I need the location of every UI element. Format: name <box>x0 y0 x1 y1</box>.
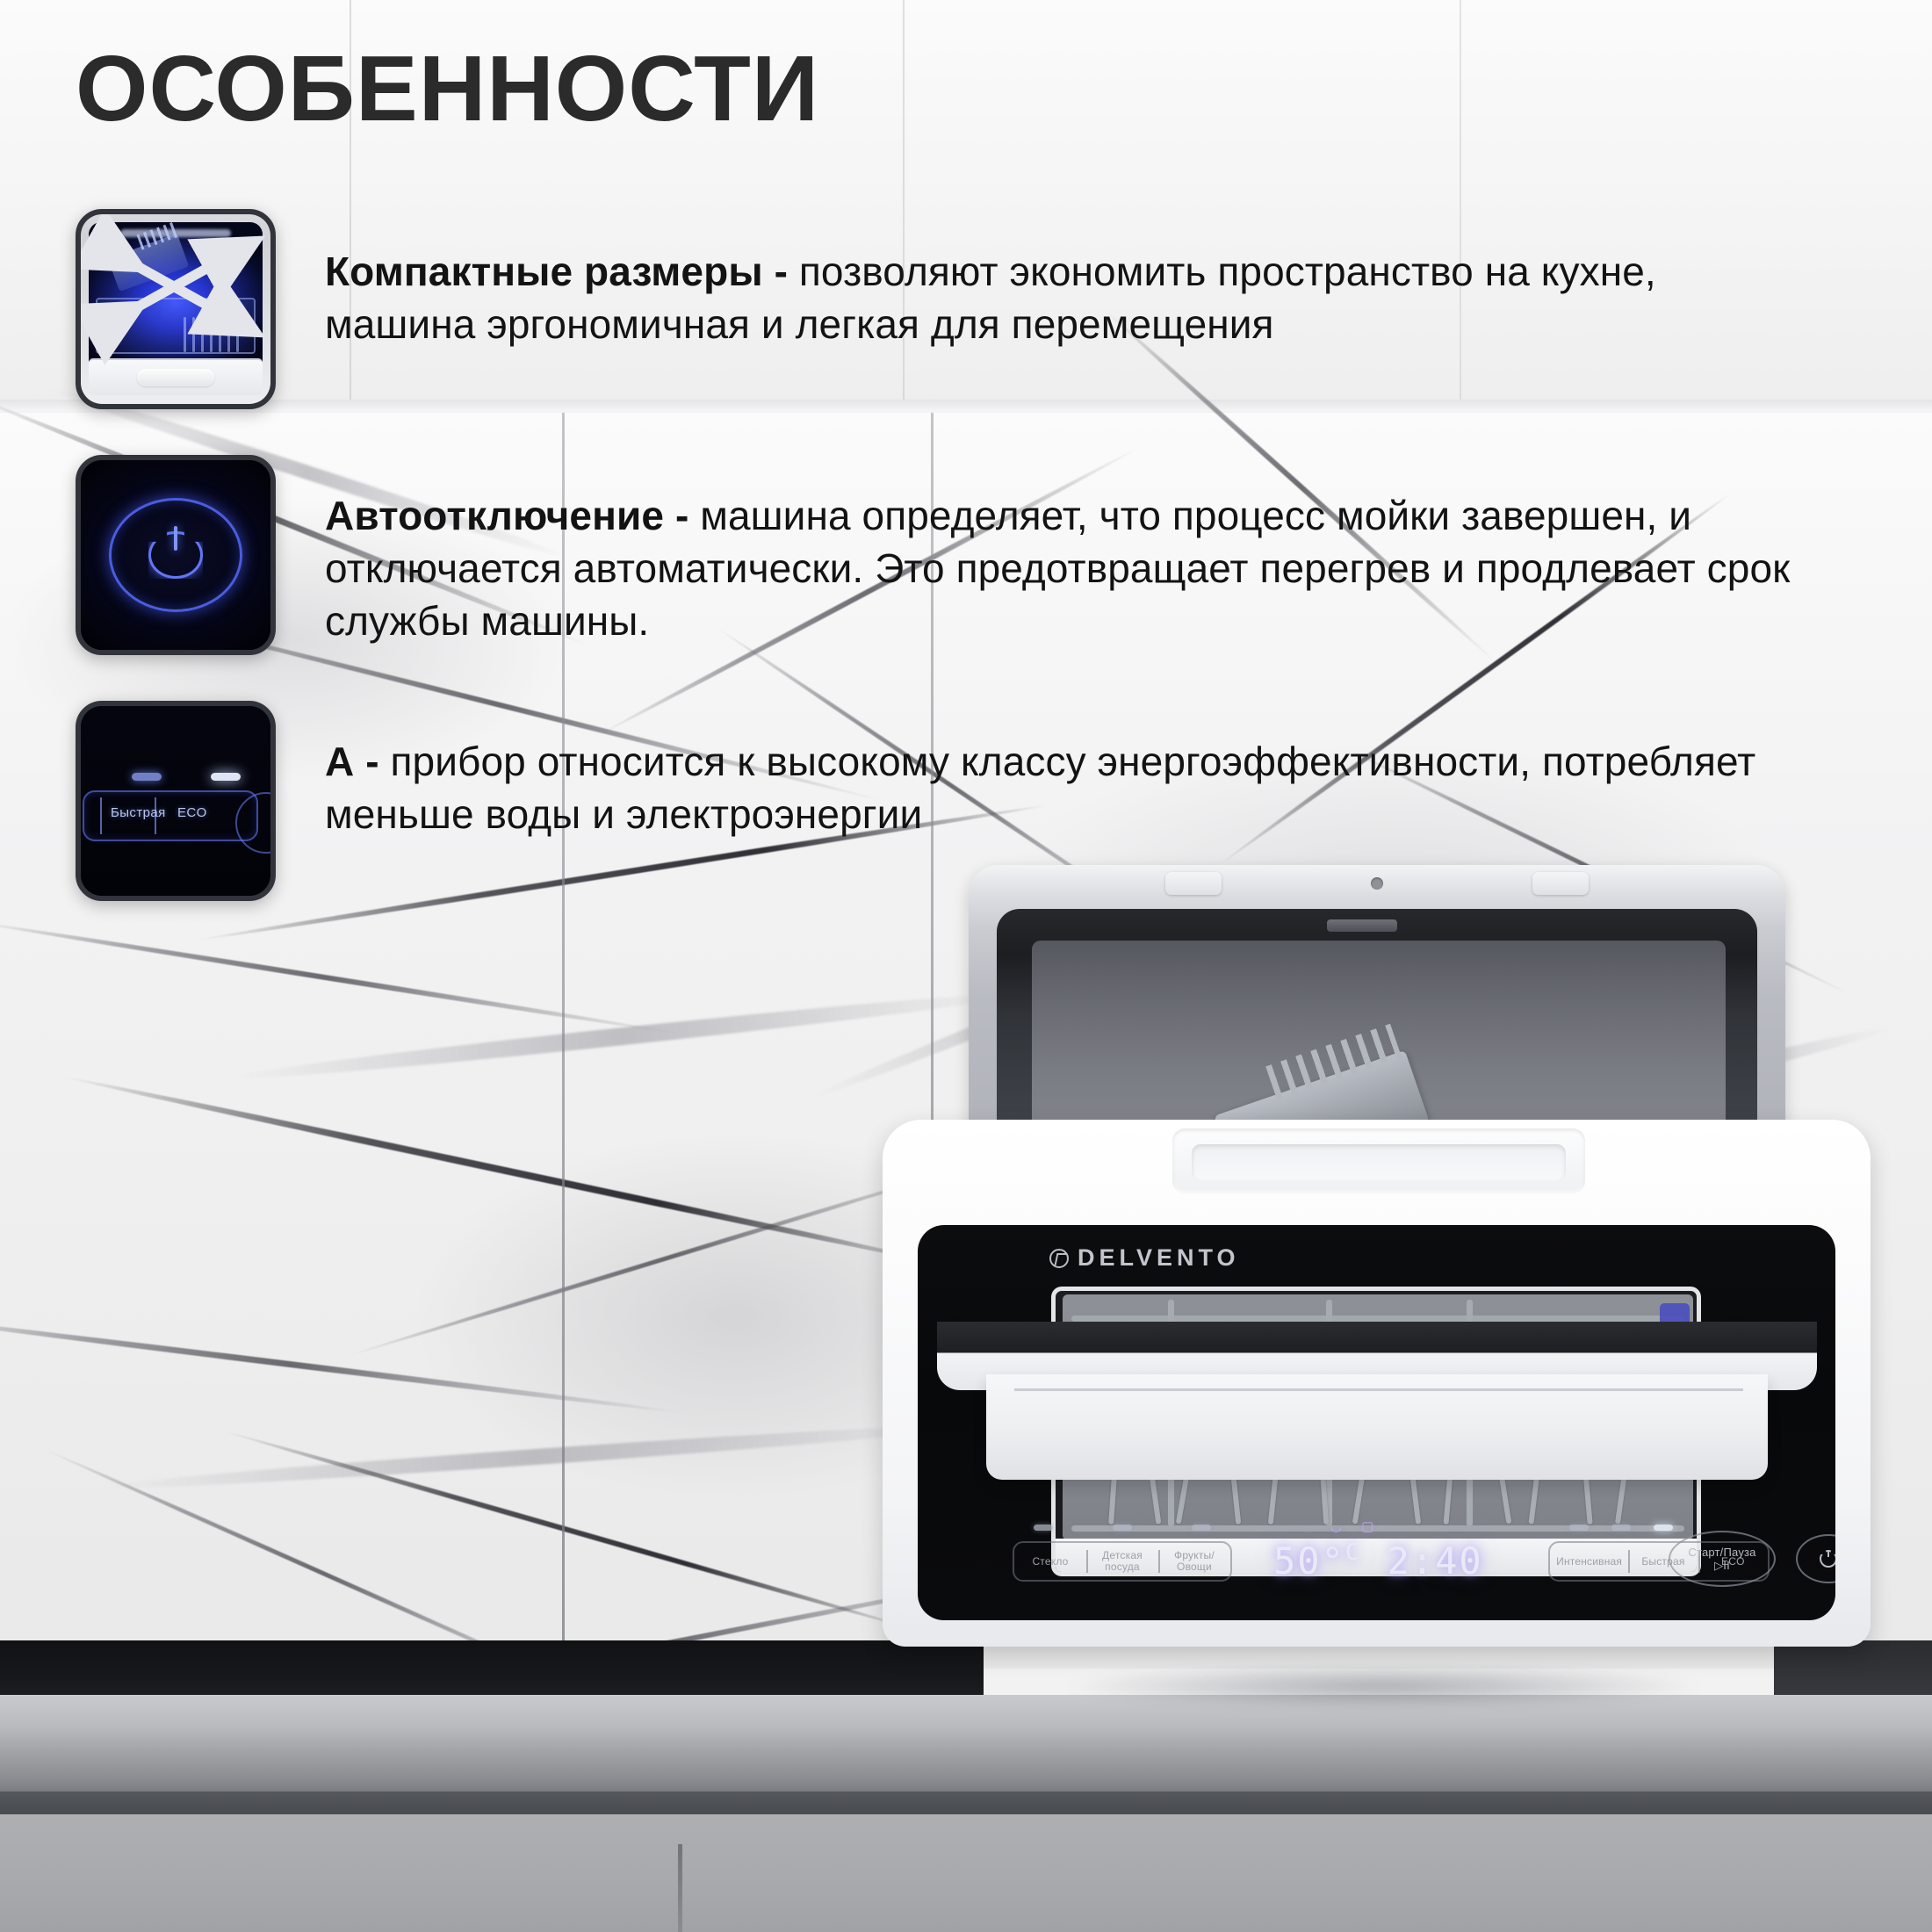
lid-sensor-dot <box>1371 877 1383 890</box>
feature-space-1 <box>664 493 675 538</box>
feature-dash-glyph-1: - <box>675 493 688 538</box>
feature-text-auto-shutoff: Автоотключение - машина определяет, что … <box>325 455 1818 647</box>
product-dishwasher: DELVENTO <box>883 865 1919 1743</box>
door-handle[interactable] <box>1172 1128 1585 1193</box>
lid-clip-right <box>1532 872 1589 895</box>
dishwasher-interior-arrows-icon <box>76 209 276 409</box>
icon-button-label-eco: ECO <box>177 805 207 820</box>
display-temperature-unit: C <box>1345 1539 1361 1566</box>
start-pause-glyph: ▷II <box>1714 1559 1730 1572</box>
start-pause-label: Старт/Пауза <box>1688 1546 1755 1559</box>
program-button-glass[interactable]: Стекло <box>1014 1543 1086 1580</box>
feature-space-2 <box>354 739 365 784</box>
led-display: 50°C 2:40 <box>1273 1534 1537 1587</box>
feature-dash-glyph-2: - <box>365 739 378 784</box>
icon-button-label-fast: Быстрая <box>111 805 166 820</box>
lid-clip-left <box>1165 872 1222 895</box>
brand-logo-mark <box>1049 1249 1069 1268</box>
display-temperature: 50°C <box>1273 1539 1361 1582</box>
feature-lead-auto-shutoff: Автоотключение <box>325 493 664 538</box>
program-button-fruit[interactable]: Фрукты/Овощи <box>1158 1543 1230 1580</box>
power-button-glow-icon <box>76 455 276 655</box>
program-button-baby[interactable]: Детская посуда <box>1086 1543 1158 1580</box>
feature-item-compact-size: Компактные размеры - позволяют экономить… <box>76 209 1849 409</box>
brand-logo: DELVENTO <box>1049 1244 1240 1272</box>
feature-text-compact-size: Компактные размеры - позволяют экономить… <box>325 209 1818 351</box>
salt-icon: ▢ <box>1361 1518 1373 1534</box>
rinse-aid-icon: ◡ <box>1330 1518 1342 1534</box>
display-time: 2:40 <box>1388 1539 1483 1582</box>
feature-list: Компактные размеры - позволяют экономить… <box>0 0 1932 931</box>
feature-text-energy-class-a: А - прибор относится к высокому классу э… <box>325 701 1818 841</box>
control-panel-eco-icon: Быстрая ECO <box>76 701 276 901</box>
program-group-left: Стекло Детская посуда Фрукты/Овощи <box>1013 1541 1232 1582</box>
feature-dash-compact-size <box>763 249 775 294</box>
start-pause-button[interactable]: Старт/Пауза ▷II <box>1669 1531 1776 1587</box>
power-icon <box>1820 1550 1835 1568</box>
cabinet-door-gap <box>678 1844 682 1932</box>
resize-arrows-icon <box>81 214 270 404</box>
feature-item-auto-shutoff: Автоотключение - машина определяет, что … <box>76 455 1849 655</box>
kitchen-cabinet-front <box>0 1814 1932 1932</box>
spray-arm <box>1327 919 1397 932</box>
program-button-intensive[interactable]: Интенсивная <box>1550 1543 1628 1580</box>
brand-logo-text: DELVENTO <box>1078 1244 1240 1272</box>
feature-body-energy-class-a: прибор относится к высокому классу энерг… <box>325 739 1755 837</box>
control-panel: Стекло Детская посуда Фрукты/Овощи ◡ ▢ 5… <box>918 1520 1835 1599</box>
base-seam <box>1014 1388 1743 1391</box>
feature-dash-glyph-0: - <box>775 249 788 294</box>
feature-lead-compact-size: Компактные размеры <box>325 249 763 294</box>
feature-lead-energy-class-a: А <box>325 739 354 784</box>
product-drop-shadow <box>935 1655 1831 1717</box>
display-status-icons: ◡ ▢ <box>1330 1518 1373 1534</box>
power-button[interactable] <box>1796 1534 1835 1583</box>
